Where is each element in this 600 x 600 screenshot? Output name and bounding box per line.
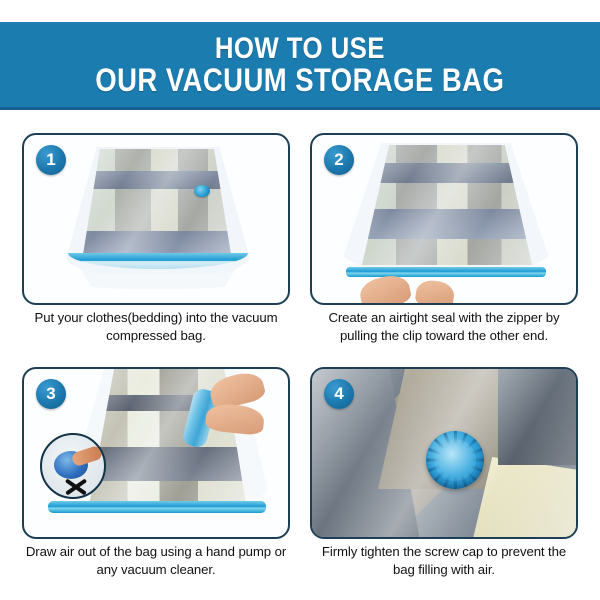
step-2-panel: 2 (310, 133, 578, 305)
x-mark-icon (64, 475, 86, 497)
step-4-caption: Firmly tighten the screw cap to prevent … (310, 543, 578, 578)
screw-cap (426, 431, 484, 489)
screw-cap-ridges (426, 431, 484, 489)
step-3: 3 (22, 367, 290, 579)
header-title-line-2: OUR VACUUM STORAGE BAG (95, 64, 504, 97)
zipper-seal (48, 501, 266, 513)
step-3-panel: 3 (22, 367, 290, 539)
bag-bottom-skirt (76, 261, 240, 289)
step-4: 4 (310, 367, 578, 579)
step-3-caption: Draw air out of the bag using a hand pum… (22, 543, 290, 578)
step-2-badge: 2 (324, 145, 354, 175)
header-title-line-1: HOW TO USE (215, 33, 385, 64)
step-1-badge: 1 (36, 145, 66, 175)
step-3-badge: 3 (36, 379, 66, 409)
zipper-seal (346, 267, 546, 277)
hand-left (357, 272, 412, 305)
header-banner: HOW TO USE OUR VACUUM STORAGE BAG (0, 22, 600, 110)
bag-transparent-shell (338, 143, 554, 275)
step-1: 1 Put your clothes (22, 133, 290, 345)
infographic-page: HOW TO USE OUR VACUUM STORAGE BAG 1 (0, 0, 600, 600)
step-4-badge: 4 (324, 379, 354, 409)
valve-icon (194, 185, 210, 197)
valve-cap-removed-inset (40, 433, 106, 499)
step-4-panel: 4 (310, 367, 578, 539)
fabric-panel-right-dark (498, 369, 578, 465)
hand-right-pulling-clip (414, 278, 455, 305)
step-1-caption: Put your clothes(bedding) into the vacuu… (22, 309, 290, 344)
step-2-caption: Create an airtight seal with the zipper … (310, 309, 578, 344)
steps-grid: 1 Put your clothes (22, 133, 578, 588)
step-2: 2 Create an airtight seal with the zippe… (310, 133, 578, 345)
step-1-panel: 1 (22, 133, 290, 305)
